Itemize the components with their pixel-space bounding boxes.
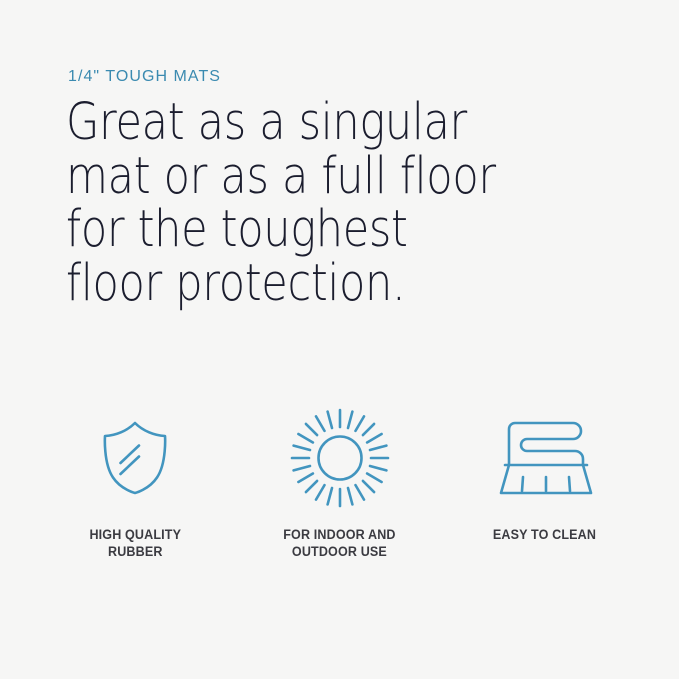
- feature-caption: HIGH QUALITY RUBBER: [89, 526, 181, 560]
- feature-item-indoor-outdoor-use: FOR INDOOR AND OUTDOOR USE: [245, 404, 435, 560]
- feature-caption-line-1: EASY TO CLEAN: [492, 526, 595, 543]
- promo-banner: 1/4" TOUGH MATS Great as a singular mat …: [0, 0, 679, 679]
- scrub-brush-icon: [497, 404, 591, 512]
- sun-icon: [289, 404, 391, 512]
- feature-caption-line-2: OUTDOOR USE: [283, 543, 395, 560]
- feature-caption: EASY TO CLEAN: [492, 526, 595, 543]
- headline-line-4: floor protection.: [66, 257, 522, 311]
- feature-item-high-quality-rubber: HIGH QUALITY RUBBER: [40, 404, 230, 560]
- eyebrow-label: 1/4" TOUGH MATS: [68, 68, 221, 86]
- headline-line-2: mat or as a full floor: [66, 150, 522, 204]
- headline-line-1: Great as a singular: [66, 96, 522, 150]
- headline-line-3: for the toughest: [66, 203, 522, 257]
- shield-icon: [100, 404, 170, 512]
- feature-item-easy-to-clean: EASY TO CLEAN: [449, 404, 639, 543]
- feature-caption-line-1: HIGH QUALITY: [89, 526, 181, 543]
- page-title: Great as a singular mat or as a full flo…: [66, 96, 522, 310]
- feature-list: HIGH QUALITY RUBBER: [40, 404, 639, 560]
- feature-caption: FOR INDOOR AND OUTDOOR USE: [283, 526, 395, 560]
- feature-caption-line-2: RUBBER: [89, 543, 181, 560]
- feature-caption-line-1: FOR INDOOR AND: [283, 526, 395, 543]
